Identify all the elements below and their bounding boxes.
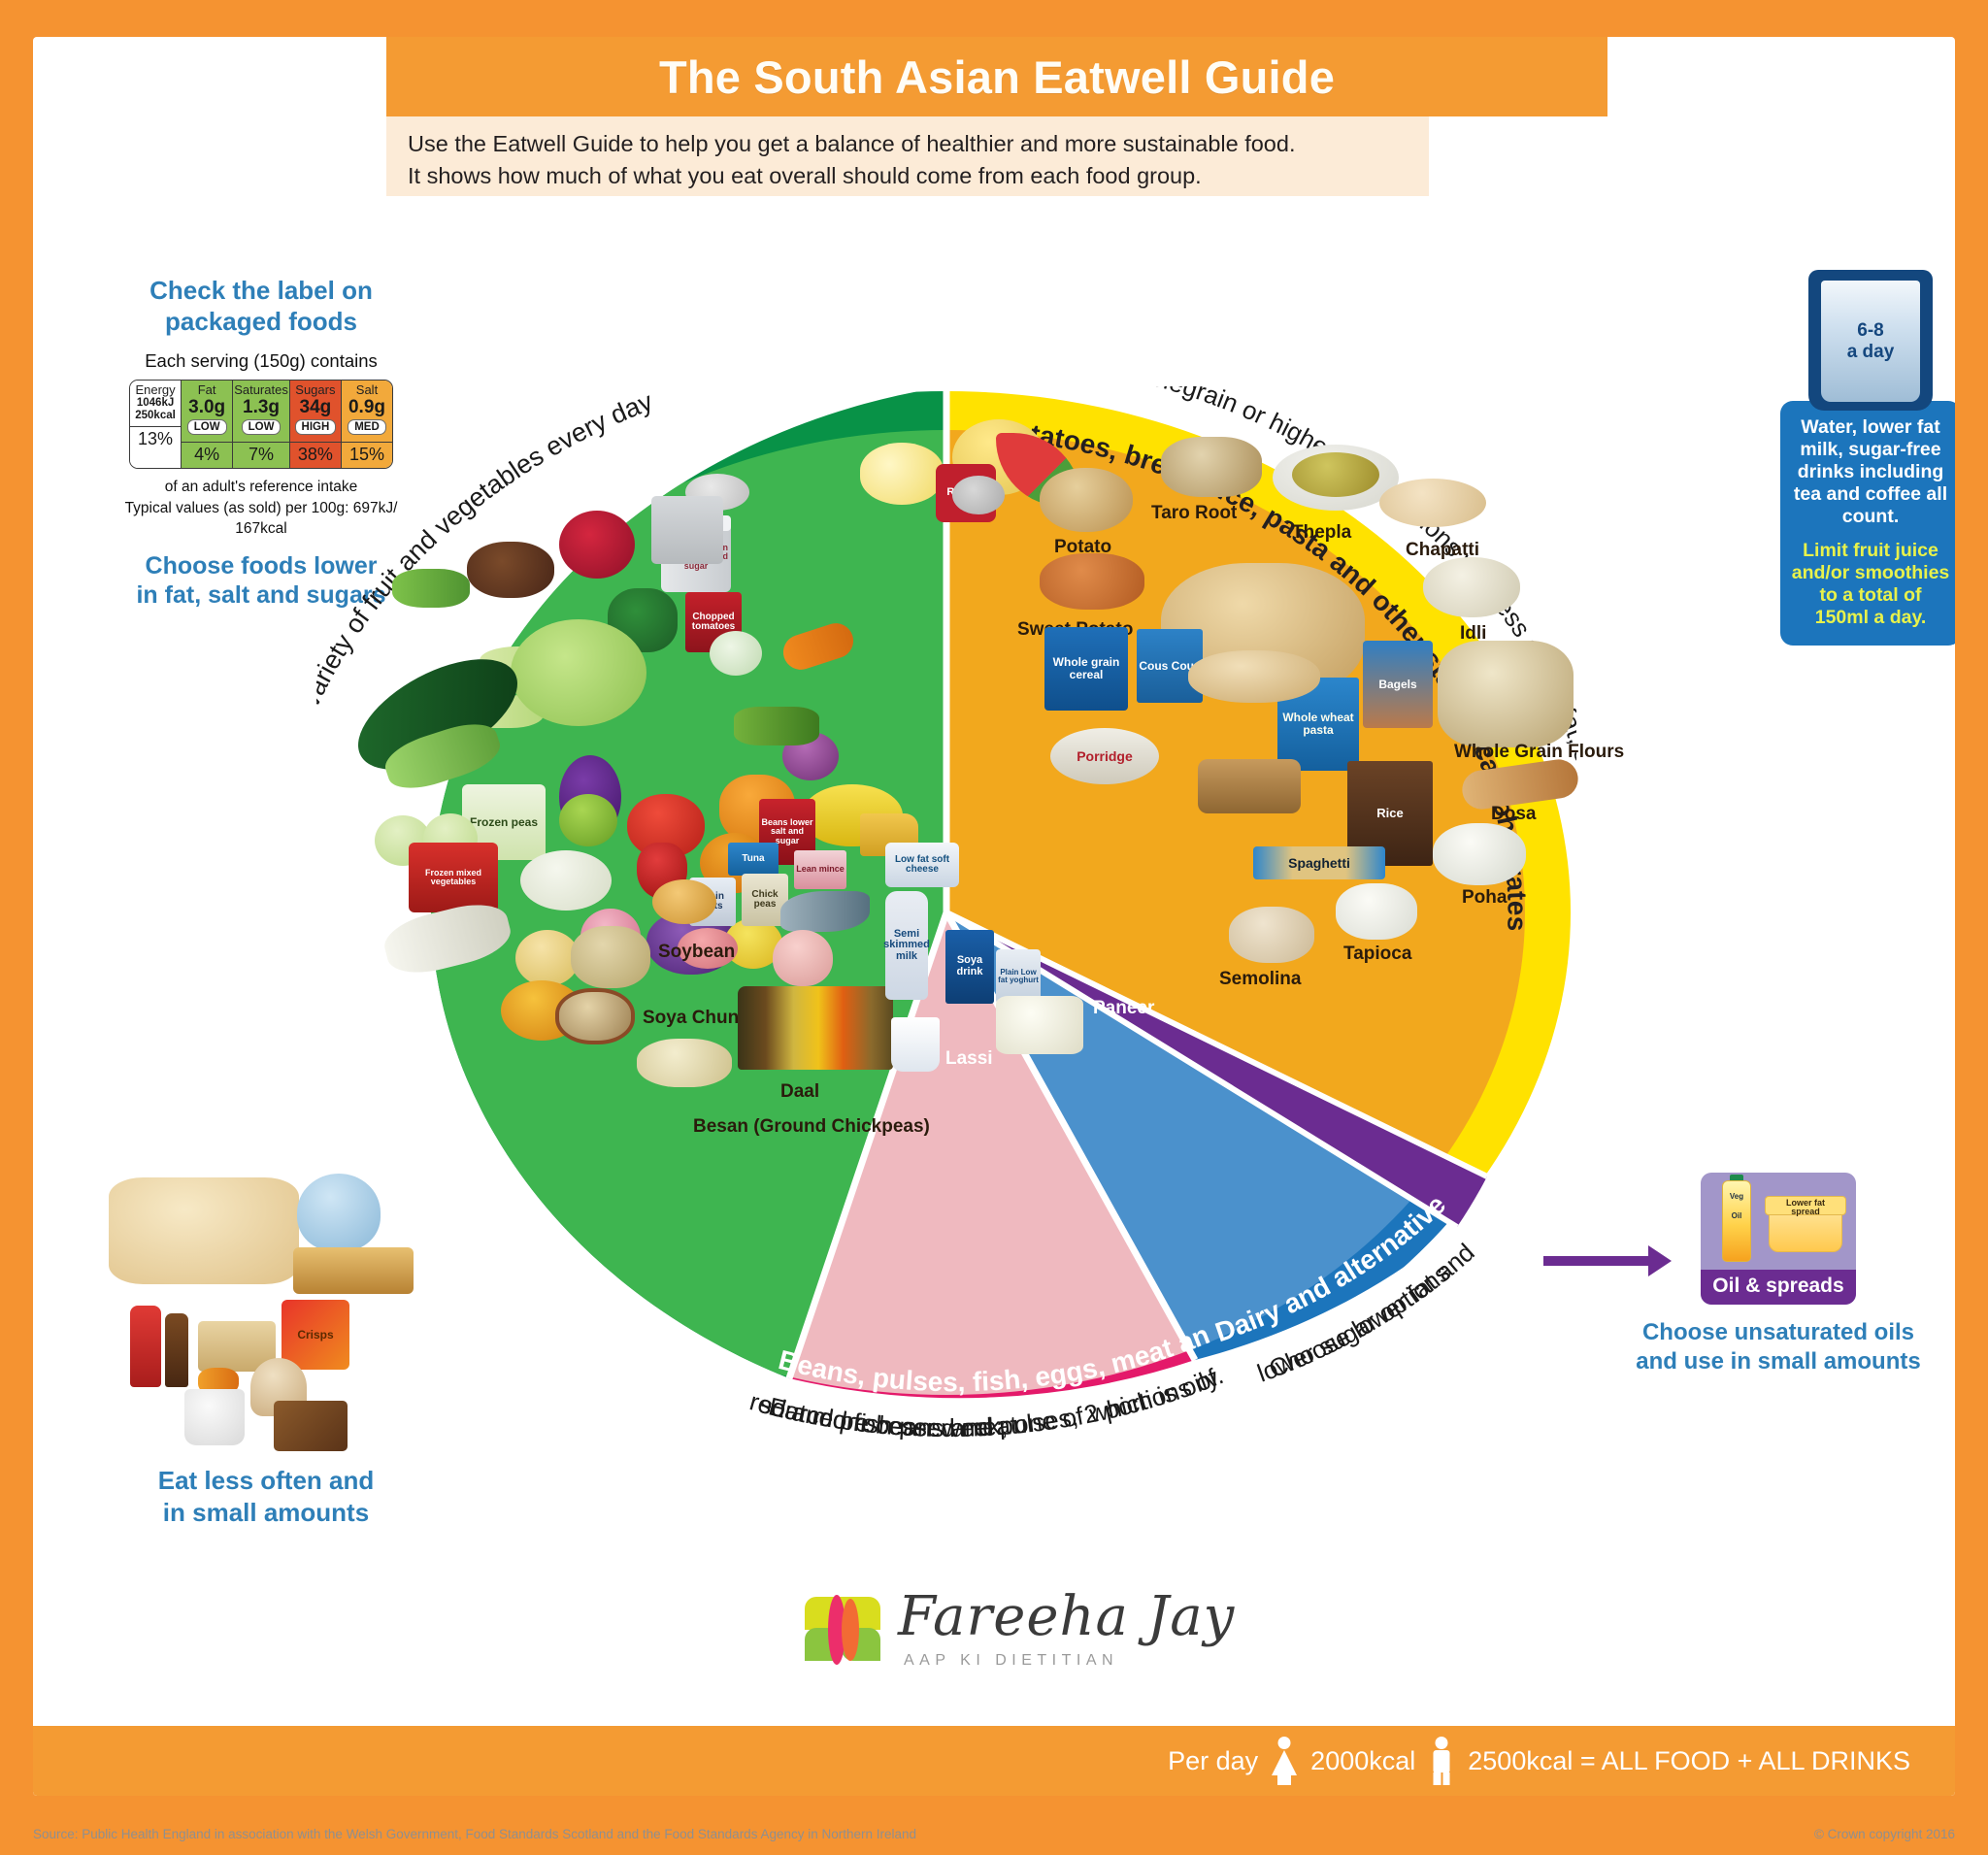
semolina-bowl-icon — [1229, 907, 1314, 963]
chapatti-icon — [1379, 479, 1486, 527]
green-beans-icon — [392, 569, 470, 608]
bagels-pack-icon: Bagels — [1363, 641, 1433, 728]
sauce-bottle-icon — [130, 1306, 161, 1387]
female-figure-icon — [1272, 1737, 1297, 1785]
eat-less-caption-line-2: in small amounts — [91, 1497, 441, 1529]
can-body-icon — [651, 496, 723, 564]
soybean-label: Soybean — [658, 942, 735, 963]
daal-icon — [738, 986, 893, 1070]
footer-source: Source: Public Health England in associa… — [33, 1827, 916, 1841]
green-apple-icon — [559, 794, 617, 846]
taro-root-icon — [1161, 437, 1262, 497]
eat-less-often-panel: Crisps Eat less often and in small amoun… — [91, 1168, 441, 1528]
oil-pointer-arrow — [1543, 1256, 1650, 1266]
logo-name: Fareeha Jay — [898, 1590, 1235, 1644]
paneer-icon — [996, 996, 1083, 1054]
subtitle-line-1: Use the Eatwell Guide to help you get a … — [408, 128, 1429, 160]
potato-icon — [1040, 468, 1133, 532]
soya-chunks-icon — [555, 988, 635, 1044]
nutrient-name: Fat — [182, 383, 231, 397]
subtitle-banner: Use the Eatwell Guide to help you get a … — [386, 116, 1429, 196]
nutrient-name: Saturates — [234, 383, 288, 397]
footer-copyright: © Crown copyright 2016 — [1814, 1827, 1955, 1841]
oil-strip-label: Oil & spreads — [1701, 1270, 1856, 1305]
logo-text: Fareeha Jay AAP KI DIETITIAN — [898, 1590, 1235, 1670]
nutrient-percent: 4% — [182, 442, 232, 468]
mushrooms-icon — [952, 476, 1005, 514]
eatwell-plate-chart: Eat at least 5 portions of a variety of … — [316, 386, 1576, 1440]
nutrient-cell-energy: Energy 1046kJ 250kcal 13% — [130, 381, 182, 468]
cabbage-icon — [511, 619, 646, 726]
tapioca-label: Tapioca — [1343, 944, 1411, 965]
samosa-plate-icon — [293, 1247, 414, 1294]
idli-icon — [1423, 557, 1520, 617]
semi-skimmed-milk-bottle-icon: Semi skimmed milk — [885, 891, 928, 1000]
oil-bottle-label-1: Veg — [1723, 1181, 1750, 1201]
label-heading-line-1: Check the label on — [101, 276, 421, 307]
spaghetti-pack-icon: Spaghetti — [1253, 846, 1385, 879]
spring-onion-icon — [734, 707, 819, 745]
dates-icon — [467, 542, 554, 598]
whole-grain-flours-icon — [1438, 641, 1574, 747]
nutrient-value: 3.0g — [182, 397, 231, 417]
glass-count: 6-8 — [1847, 320, 1895, 341]
soya-drink-carton-icon: Soya drink — [945, 930, 994, 1004]
chocolate-bar-icon — [274, 1401, 348, 1451]
pomegranate-icon — [559, 511, 635, 579]
eggs-icon — [652, 879, 716, 924]
pitta-bread-icon — [1188, 650, 1320, 703]
water-advice-body: Water, lower fat milk, sugar-free drinks… — [1791, 416, 1950, 528]
sweet-potato-icon — [1040, 553, 1144, 610]
subtitle-line-2: It shows how much of what you eat overal… — [408, 160, 1429, 192]
ice-cream-icon — [184, 1389, 245, 1445]
chicken-icon — [773, 930, 833, 986]
nutrient-percent: 7% — [233, 442, 289, 468]
besan-label: Besan (Ground Chickpeas) — [693, 1116, 930, 1138]
daal-label: Daal — [780, 1081, 819, 1103]
footer: Source: Public Health England in associa… — [33, 1827, 1955, 1841]
cauliflower-icon — [520, 850, 612, 911]
oil-artwork: Veg Oil Lower fat spread — [1701, 1173, 1856, 1270]
eat-less-artwork: Crisps — [91, 1168, 441, 1449]
water-advice-card: Water, lower fat milk, sugar-free drinks… — [1780, 401, 1955, 646]
thepla-icon — [1292, 452, 1379, 497]
page-title: The South Asian Eatwell Guide — [659, 50, 1335, 104]
poster-sheet: The South Asian Eatwell Guide Use the Ea… — [33, 37, 1955, 1796]
thepla-label: Thepla — [1292, 522, 1351, 544]
condiment-bottle-icon — [165, 1313, 188, 1387]
male-kcal-value: 2500kcal = ALL FOOD + ALL DRINKS — [1468, 1746, 1910, 1776]
energy-bar: Per day 2000kcal 2500kcal = ALL FOOD + A… — [33, 1726, 1955, 1796]
nutrient-value-kj: 1046kJ — [131, 397, 180, 410]
eat-less-caption-line-1: Eat less often and — [91, 1465, 441, 1497]
mithai-platter-icon — [109, 1177, 299, 1284]
lassi-glass-icon — [891, 1017, 940, 1072]
label-heading-line-2: packaged foods — [101, 307, 421, 338]
poster-frame: The South Asian Eatwell Guide Use the Ea… — [0, 0, 1988, 1855]
taro-root-label: Taro Root — [1151, 503, 1237, 524]
glass-period: a day — [1847, 342, 1895, 362]
lean-mince-pack-icon: Lean mince — [794, 850, 846, 889]
lassi-label: Lassi — [945, 1048, 993, 1070]
vegetable-oil-bottle-icon: Veg Oil — [1722, 1180, 1751, 1262]
paneer-label: Paneer — [1093, 998, 1154, 1019]
semolina-label: Semolina — [1219, 969, 1301, 990]
nutrient-cell-saturates: Saturates 1.3g LOW 7% — [233, 381, 290, 468]
oil-card: Veg Oil Lower fat spread Oil & spreads — [1701, 1173, 1856, 1305]
nutrient-name: Energy — [131, 383, 180, 397]
serving-size-text: Each serving (150g) contains — [101, 350, 421, 372]
nutrient-level-badge: LOW — [242, 419, 282, 435]
tuna-can-icon: Tuna — [728, 843, 779, 876]
oil-caption-line-2: and use in small amounts — [1633, 1347, 1924, 1376]
nutrient-level-badge: LOW — [187, 419, 227, 435]
flower-logo-icon — [805, 1591, 880, 1669]
female-kcal-value: 2000kcal — [1310, 1746, 1415, 1776]
crisps-bag-icon: Crisps — [282, 1300, 349, 1370]
crispbread-icon — [1198, 759, 1301, 813]
spread-label-2: spread — [1766, 1208, 1845, 1216]
besan-icon — [637, 1039, 732, 1087]
logo-tagline: AAP KI DIETITIAN — [898, 1652, 1235, 1670]
soybean-icon — [571, 926, 650, 988]
title-banner: The South Asian Eatwell Guide — [386, 37, 1607, 116]
frozen-mixed-vegetables-pack-icon: Frozen mixed vegetables — [409, 843, 498, 912]
oil-and-spreads-panel: Veg Oil Lower fat spread Oil & spreads C… — [1633, 1173, 1924, 1376]
nutrient-percent: 13% — [130, 426, 181, 452]
whole-grain-flours-label: Whole Grain Flours — [1454, 742, 1624, 763]
oil-bottle-label-2: Oil — [1723, 1201, 1750, 1220]
male-figure-icon — [1429, 1737, 1454, 1785]
oil-caption: Choose unsaturated oils and use in small… — [1633, 1318, 1924, 1376]
water-glass-icon: 6-8 a day — [1808, 270, 1933, 411]
water-advice-highlight: Limit fruit juice and/or smoothies to a … — [1791, 540, 1950, 629]
eat-less-caption: Eat less often and in small amounts — [91, 1465, 441, 1528]
tapioca-bowl-icon — [1336, 883, 1417, 940]
bhel-bowl-icon — [297, 1174, 381, 1251]
hydration-panel: 6-8 a day Water, lower fat milk, sugar-f… — [1780, 270, 1955, 646]
poha-bowl-icon — [1433, 823, 1526, 885]
melon-icon — [860, 443, 944, 505]
poha-label: Poha — [1462, 887, 1507, 909]
nutrient-value-kcal: 250kcal — [131, 410, 180, 422]
per-day-label: Per day — [1168, 1746, 1258, 1776]
nutrient-value: 1.3g — [234, 397, 288, 417]
cucumber-slices-icon — [710, 631, 762, 676]
label-panel-heading: Check the label on packaged foods — [101, 276, 421, 337]
porridge-bowl-icon: Porridge — [1050, 728, 1159, 784]
brand-logo: Fareeha Jay AAP KI DIETITIAN — [805, 1590, 1261, 1670]
low-fat-soft-cheese-icon: Low fat soft cheese — [885, 843, 959, 887]
oil-caption-line-1: Choose unsaturated oils — [1633, 1318, 1924, 1347]
dosa-label: Dosa — [1491, 804, 1536, 825]
wholegrain-cereal-box-icon: Whole grain cereal — [1044, 627, 1128, 711]
fish-icon — [780, 891, 870, 932]
nutrient-cell-fat: Fat 3.0g LOW 4% — [182, 381, 233, 468]
spread-tub-lid-icon: Lower fat spread — [1765, 1196, 1846, 1215]
